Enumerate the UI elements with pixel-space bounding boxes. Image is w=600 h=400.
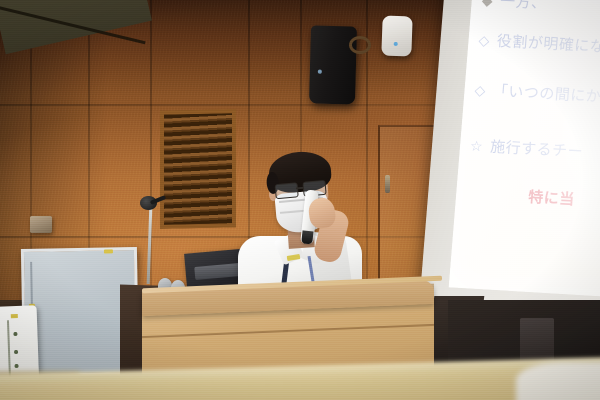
panel-dot [13,332,17,336]
slide-emphasis-text: 特に当 [528,190,576,207]
slide-line-text: 「いつの間にか [492,82,600,106]
slide-bullet-line: ☆施行するチー [470,139,584,160]
air-vent-grille [160,109,236,229]
wall-sensor-device-icon [381,15,412,56]
open-diamond-icon: ◇ [478,33,490,50]
slide-content: ◆一方、 ◇役割が明確にな ◇「いつの間にか ☆施行するチー 特に当 [459,0,600,297]
door-handle-icon[interactable] [385,175,390,193]
slide-bullet-line: ◇役割が明確にな [478,33,600,55]
slide-bullet-line: ◇「いつの間にか [474,83,600,105]
projection-screen: ◆一方、 ◇役割が明確にな ◇「いつの間にか ☆施行するチー 特に当 [418,0,600,339]
speaker-mount-bracket [349,36,371,54]
panel-dot [14,364,18,368]
slide-bullet-line: ◆一方、 [481,0,547,11]
panel-dot [14,350,18,354]
filled-diamond-icon: ◆ [481,0,493,9]
slide-line-text: 一方、 [499,0,547,12]
lecture-hall-photo: ◆一方、 ◇役割が明確にな ◇「いつの間にか ☆施行するチー 特に当 [0,0,600,400]
wall-speaker-icon [309,25,357,104]
whiteboard-clip [104,249,113,253]
panel-clip [11,314,18,318]
foreground-object [516,362,600,400]
slide-line-text: 役割が明確にな [496,32,600,56]
wall-fixture [30,216,52,233]
vent-louvers [164,113,232,224]
star-icon: ☆ [469,139,483,156]
open-diamond-icon: ◇ [474,83,486,100]
slide-line-text: 施行するチー [490,138,584,161]
glasses-lens [275,182,299,199]
